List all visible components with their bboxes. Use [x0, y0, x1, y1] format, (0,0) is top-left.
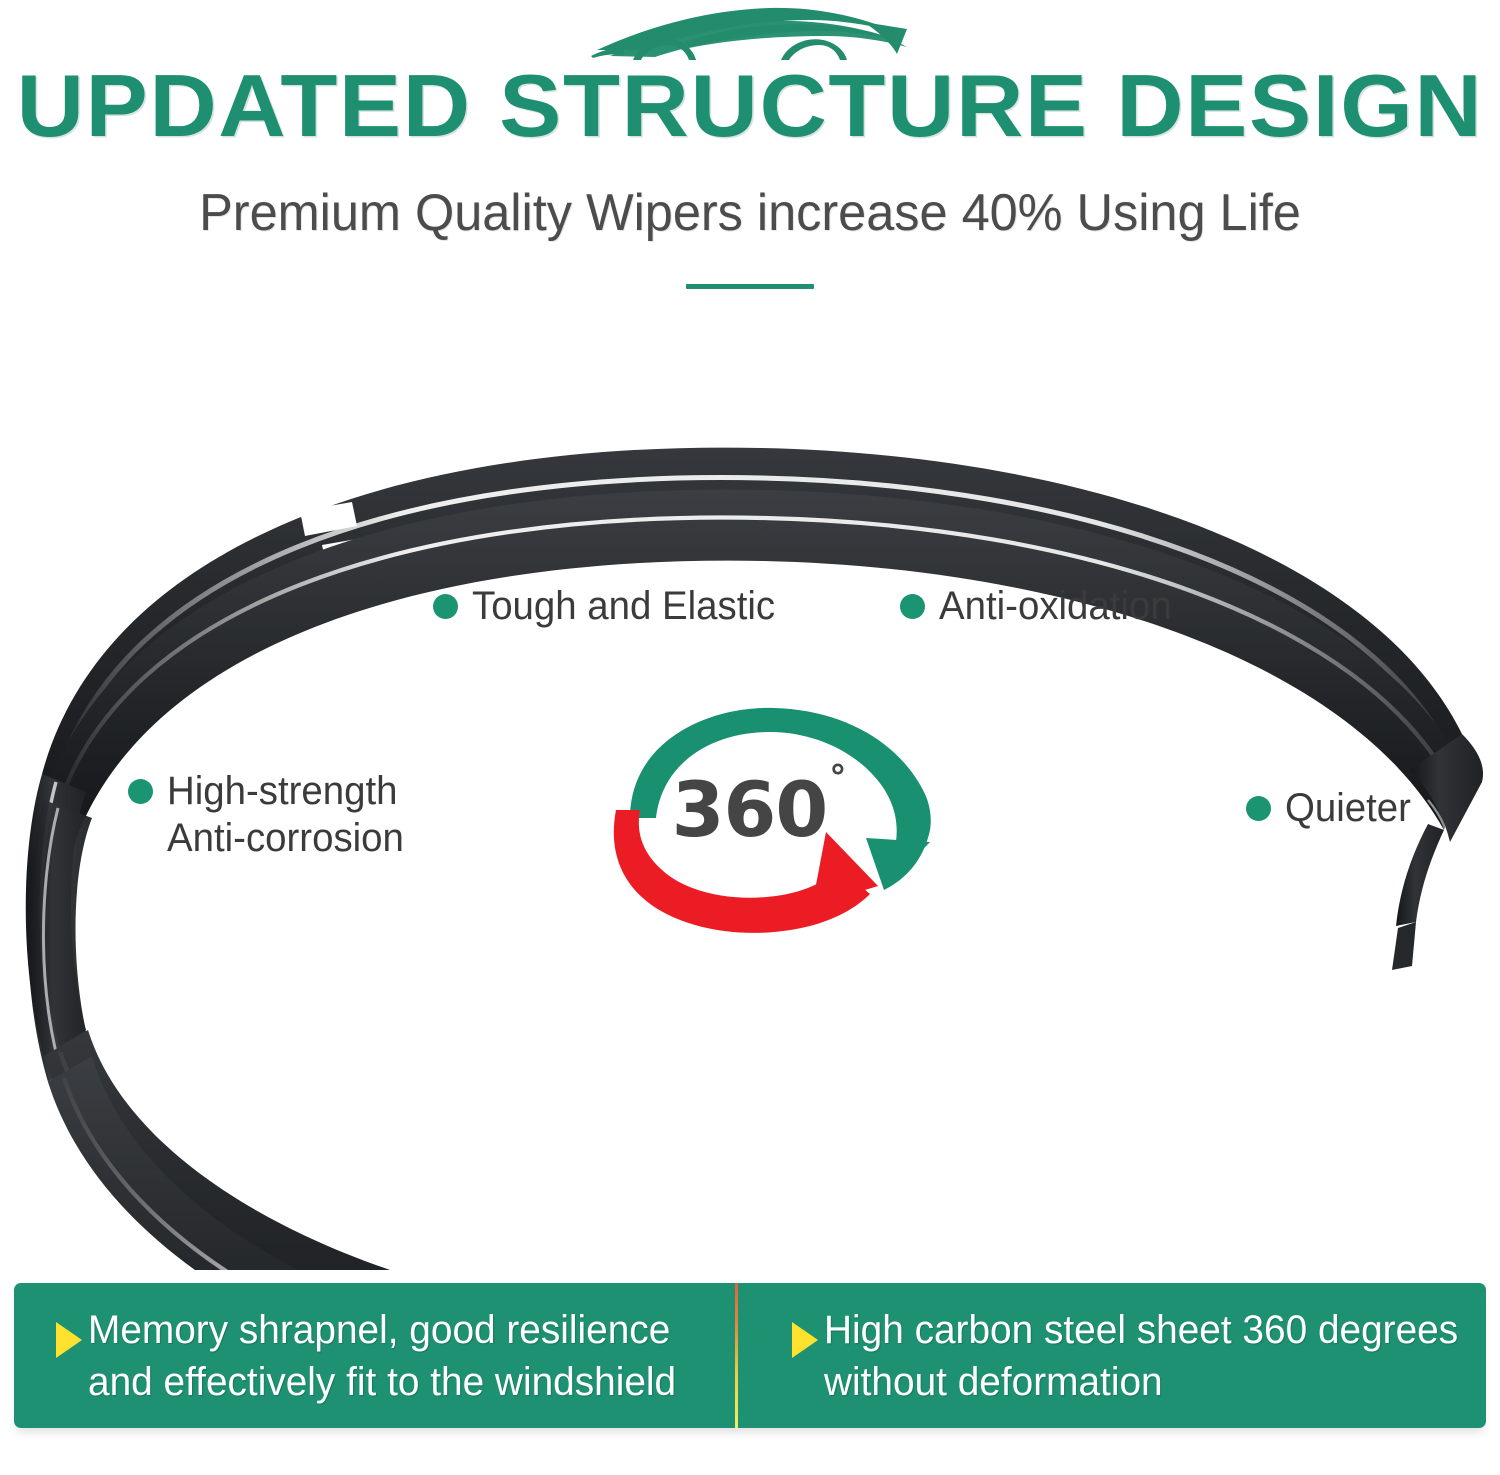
bullet-dot-icon — [1246, 796, 1271, 821]
banner-text-line1: Memory shrapnel, good resilience — [88, 1304, 676, 1356]
360-rotation-badge: 360 ° — [578, 700, 958, 935]
banner-panel-high-carbon-steel: High carbon steel sheet 360 degrees with… — [750, 1283, 1486, 1428]
title-divider-rule — [686, 284, 814, 289]
callout-anti-oxidation: Anti-oxidation — [900, 583, 1181, 630]
callout-label: Tough and Elastic — [472, 583, 775, 630]
page-subtitle: Premium Quality Wipers increase 40% Usin… — [23, 180, 1478, 246]
bullet-dot-icon — [433, 594, 458, 619]
play-triangle-icon — [792, 1322, 818, 1358]
callout-label: Quieter — [1285, 785, 1411, 832]
callout-high-strength: High-strength Anti-corrosion — [128, 768, 414, 862]
page-title: UPDATED STRUCTURE DESIGN — [0, 58, 1500, 154]
callout-label: Anti-oxidation — [939, 583, 1172, 630]
banner-panel-memory-shrapnel: Memory shrapnel, good resilience and eff… — [14, 1283, 750, 1428]
banner-vertical-divider — [735, 1283, 738, 1428]
callout-label-line2: Anti-corrosion — [167, 815, 404, 862]
callout-label-line1: High-strength — [167, 768, 404, 815]
callout-quieter: Quieter — [1246, 785, 1416, 832]
header: UPDATED STRUCTURE DESIGN Premium Quality… — [0, 0, 1500, 310]
play-triangle-icon — [56, 1322, 82, 1358]
360-rotation-arrows-icon — [578, 700, 958, 935]
callout-tough-and-elastic: Tough and Elastic — [433, 583, 788, 630]
bullet-dot-icon — [128, 779, 153, 804]
feature-banner: Memory shrapnel, good resilience and eff… — [14, 1283, 1486, 1428]
bullet-dot-icon — [900, 594, 925, 619]
banner-text-line2: and effectively fit to the windshield — [88, 1356, 676, 1408]
car-silhouette-icon — [585, 2, 915, 64]
banner-text-line2: without deformation — [824, 1356, 1458, 1408]
banner-text-line1: High carbon steel sheet 360 degrees — [824, 1304, 1458, 1356]
